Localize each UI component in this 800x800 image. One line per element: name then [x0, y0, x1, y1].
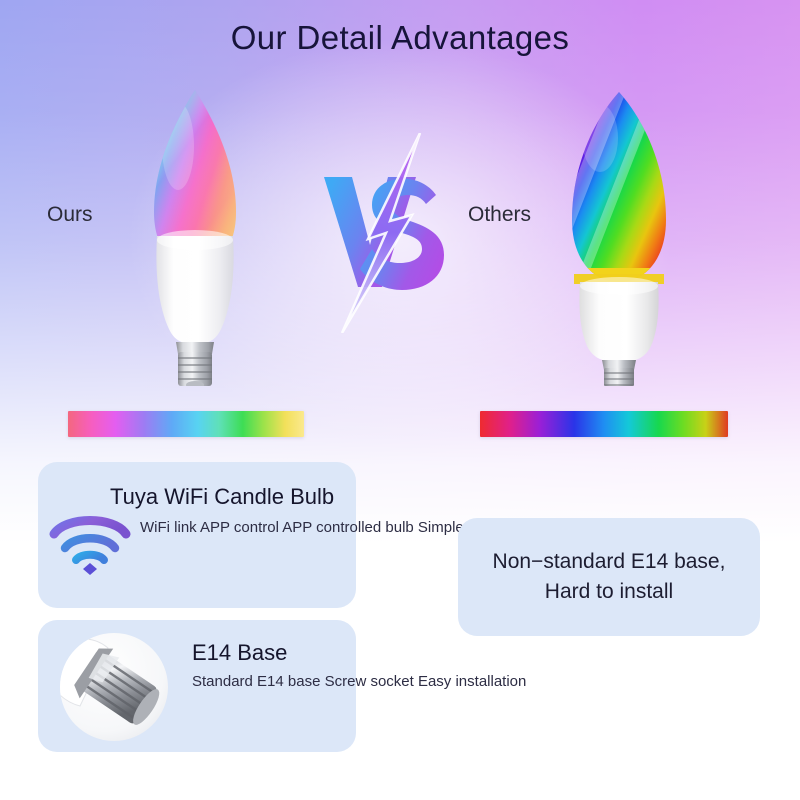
vs-divider	[316, 133, 464, 333]
e14-screw-base-photo	[58, 632, 170, 742]
feature-card-others-drawback: Non−standard E14 base, Hard to install	[458, 518, 760, 636]
others-drawback-text: Non−standard E14 base, Hard to install	[493, 547, 726, 607]
candle-bulb-ours-icon	[140, 86, 250, 386]
feature-lines-e14: Standard E14 base Screw socket Easy inst…	[192, 672, 526, 692]
feature-heading-wifi: Tuya WiFi Candle Bulb	[110, 484, 334, 510]
page-title: Our Detail Advantages	[0, 19, 800, 57]
feature-card-wifi: Tuya WiFi Candle Bulb WiFi link APP cont…	[38, 462, 356, 608]
feature-heading-e14: E14 Base	[192, 640, 287, 666]
label-others: Others	[468, 203, 531, 227]
color-strip-others	[480, 411, 728, 437]
feature-card-e14-base: E14 Base Standard E14 base Screw socket …	[38, 620, 356, 752]
candle-bulb-others-icon	[560, 86, 678, 386]
product-comparison-poster: Our Detail Advantages Ours Others	[0, 0, 800, 800]
wifi-signal-icon	[48, 506, 132, 576]
label-ours: Ours	[47, 203, 93, 227]
color-strip-ours	[68, 411, 304, 437]
